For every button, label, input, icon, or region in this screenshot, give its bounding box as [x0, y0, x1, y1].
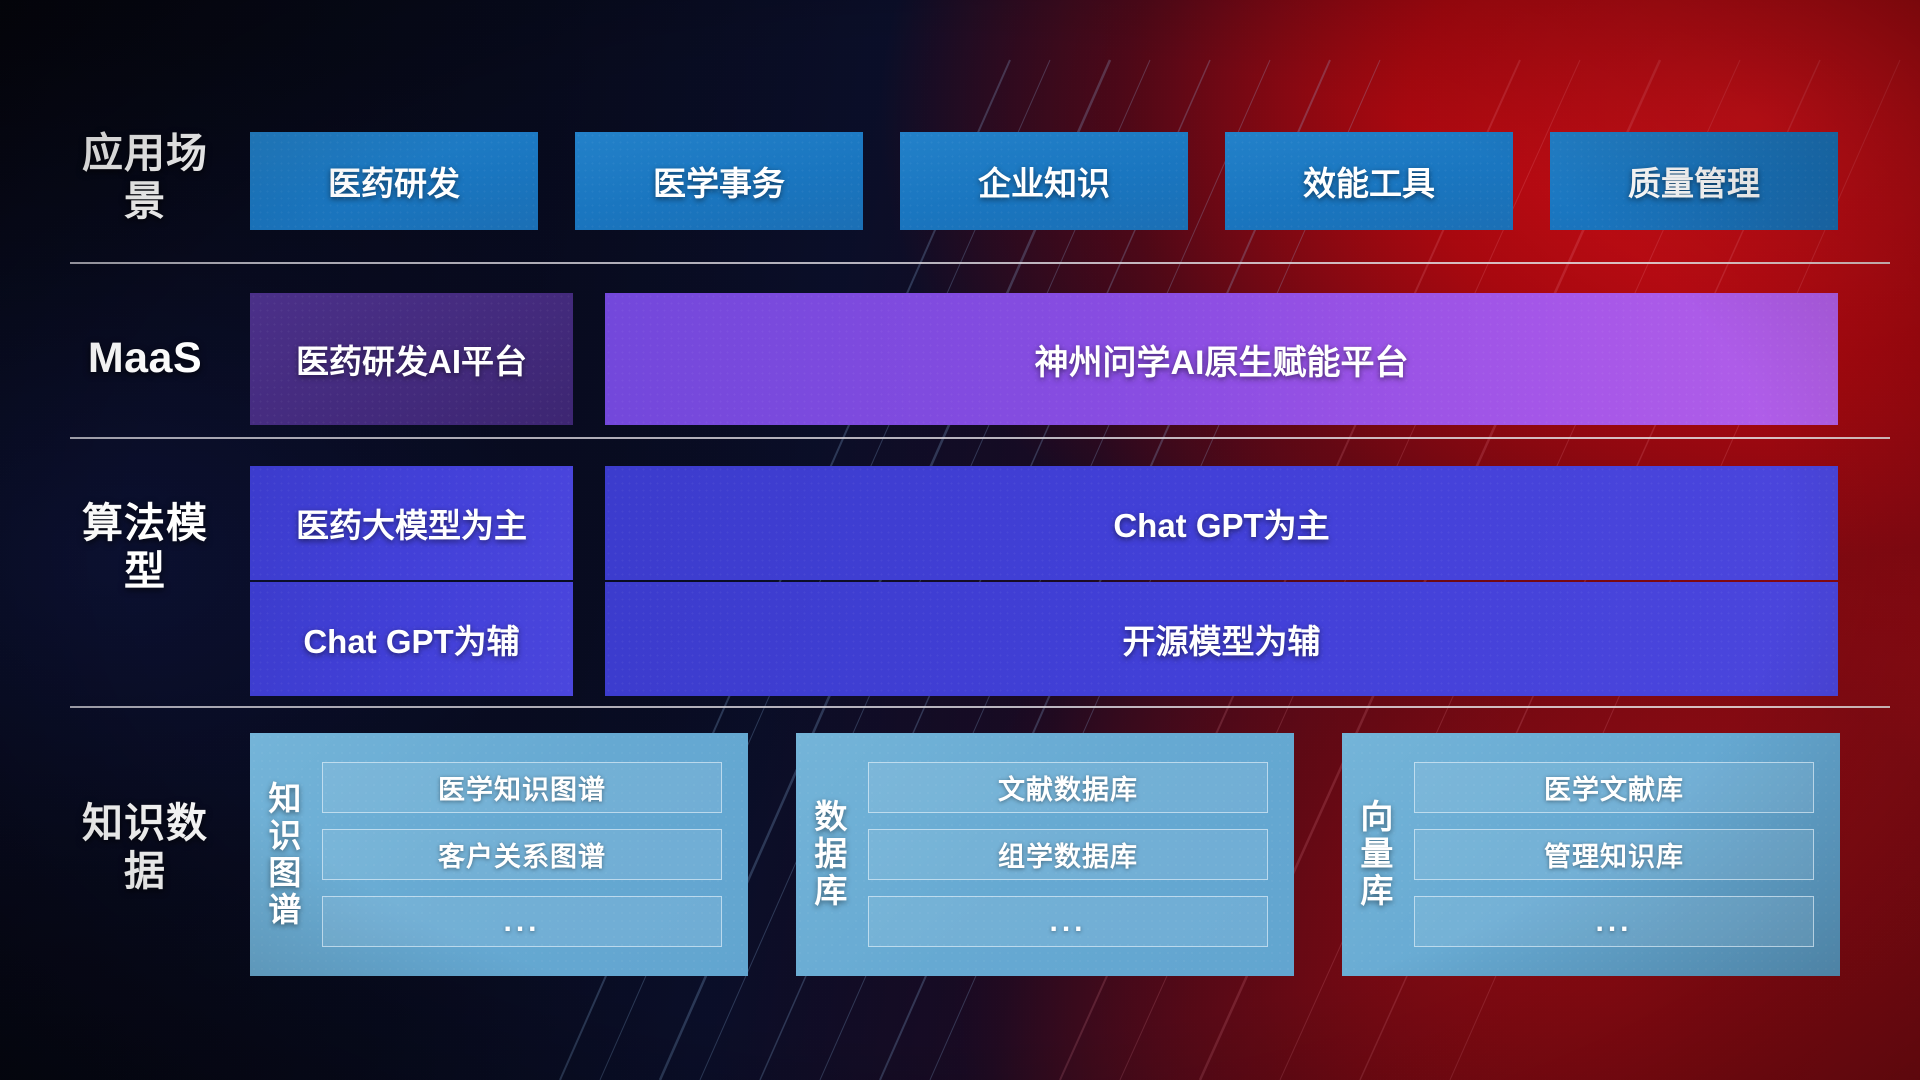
row-label-algorithm: 算法模型 — [70, 500, 220, 595]
app-card-4-label: 效能工具 — [1303, 157, 1435, 205]
maas-platform-label: 医药研发AI平台 — [296, 335, 527, 383]
knowledge-group-database[interactable]: 数据库 文献数据库 组学数据库 ... — [796, 733, 1294, 976]
algo-card-primary-left-label: 医药大模型为主 — [296, 499, 527, 547]
app-card-5[interactable]: 质量管理 — [1550, 132, 1838, 230]
knowledge-item[interactable]: 组学数据库 — [868, 829, 1268, 880]
knowledge-group-vector[interactable]: 向量库 医学文献库 管理知识库 ... — [1342, 733, 1840, 976]
app-card-1-label: 医药研发 — [328, 157, 460, 205]
app-card-1[interactable]: 医药研发 — [250, 132, 538, 230]
knowledge-item-more[interactable]: ... — [868, 896, 1268, 947]
algo-card-secondary-left-label: Chat GPT为辅 — [303, 615, 519, 663]
app-card-3-label: 企业知识 — [978, 157, 1110, 205]
diagram-canvas: 应用场景 医药研发 医学事务 企业知识 效能工具 质量管理 MaaS 医药研发A… — [0, 0, 1920, 1080]
algo-card-primary-left[interactable]: 医药大模型为主 — [250, 466, 573, 580]
app-card-5-label: 质量管理 — [1628, 157, 1760, 205]
knowledge-group-graph-items: 医学知识图谱 客户关系图谱 ... — [314, 733, 748, 976]
algo-card-secondary-right-label: 开源模型为辅 — [1123, 615, 1321, 663]
row-label-maas: MaaS — [70, 334, 220, 384]
knowledge-item[interactable]: 管理知识库 — [1414, 829, 1814, 880]
knowledge-group-database-label: 数据库 — [796, 733, 860, 976]
knowledge-group-graph-label: 知识图谱 — [250, 733, 314, 976]
row-label-knowledge: 知识数据 — [70, 800, 220, 895]
knowledge-group-database-items: 文献数据库 组学数据库 ... — [860, 733, 1294, 976]
knowledge-group-graph[interactable]: 知识图谱 医学知识图谱 客户关系图谱 ... — [250, 733, 748, 976]
knowledge-group-vector-label: 向量库 — [1342, 733, 1406, 976]
knowledge-group-vector-items: 医学文献库 管理知识库 ... — [1406, 733, 1840, 976]
algo-card-primary-right[interactable]: Chat GPT为主 — [605, 466, 1838, 580]
knowledge-item-more[interactable]: ... — [322, 896, 722, 947]
app-card-3[interactable]: 企业知识 — [900, 132, 1188, 230]
divider-3 — [70, 706, 1890, 708]
algo-card-primary-right-label: Chat GPT为主 — [1113, 499, 1329, 547]
knowledge-item-more[interactable]: ... — [1414, 896, 1814, 947]
maas-enablement-bar[interactable]: 神州问学AI原生赋能平台 — [605, 293, 1838, 425]
maas-enablement-label: 神州问学AI原生赋能平台 — [1035, 335, 1409, 384]
knowledge-item[interactable]: 文献数据库 — [868, 762, 1268, 813]
knowledge-item[interactable]: 客户关系图谱 — [322, 829, 722, 880]
algo-card-secondary-right[interactable]: 开源模型为辅 — [605, 582, 1838, 696]
app-card-2[interactable]: 医学事务 — [575, 132, 863, 230]
row-label-application: 应用场景 — [70, 130, 220, 225]
divider-1 — [70, 262, 1890, 264]
algo-card-secondary-left[interactable]: Chat GPT为辅 — [250, 582, 573, 696]
divider-2 — [70, 437, 1890, 439]
maas-platform-card[interactable]: 医药研发AI平台 — [250, 293, 573, 425]
app-card-4[interactable]: 效能工具 — [1225, 132, 1513, 230]
knowledge-item[interactable]: 医学知识图谱 — [322, 762, 722, 813]
app-card-2-label: 医学事务 — [653, 157, 785, 205]
knowledge-item[interactable]: 医学文献库 — [1414, 762, 1814, 813]
